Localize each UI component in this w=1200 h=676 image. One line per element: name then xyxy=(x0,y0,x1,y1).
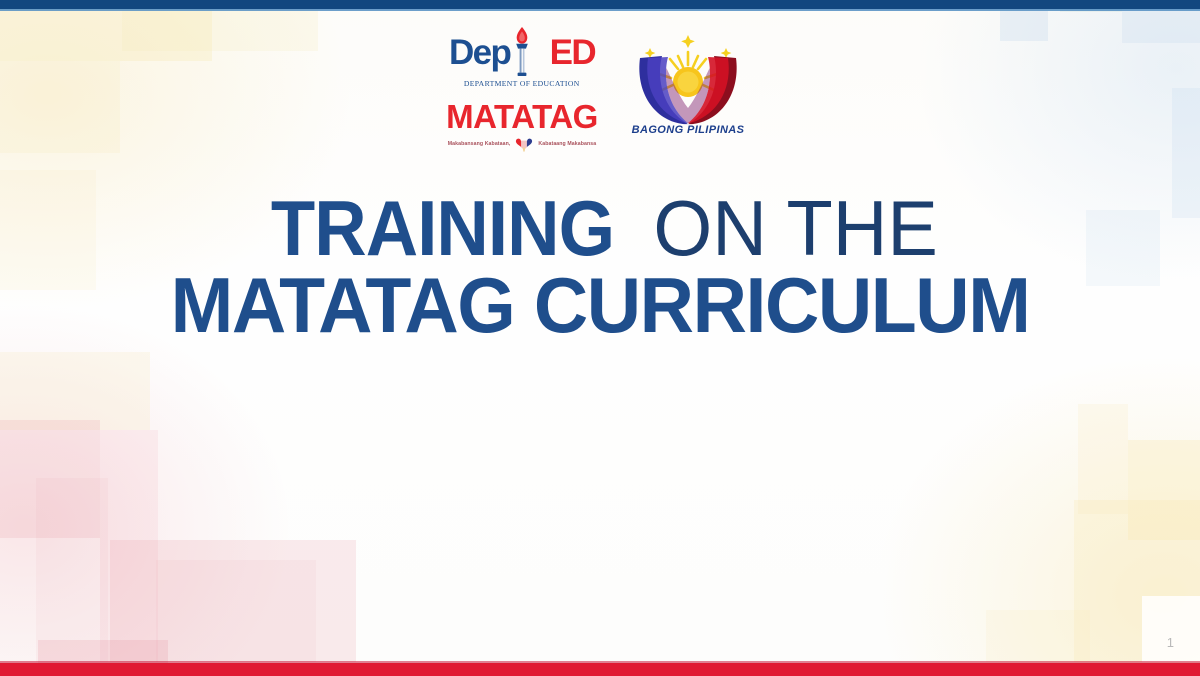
deped-wordmark: Dep ED xyxy=(449,32,595,78)
logo-row: Dep ED DEPARTMENT OF EDUCATION xyxy=(0,32,1200,152)
deped-logo: Dep ED DEPARTMENT OF EDUCATION xyxy=(446,32,598,152)
top-accent-bar xyxy=(0,0,1200,9)
bottom-accent-hairline xyxy=(0,661,1200,663)
decor-rect-pink-bl-5 xyxy=(156,560,316,662)
bagong-pilipinas-label: BAGONG PILIPINAS xyxy=(632,124,745,136)
decor-rect-cream-ml-1 xyxy=(0,352,150,430)
decor-rect-pink-bl-4 xyxy=(36,478,108,662)
decor-rect-cream-br-1 xyxy=(1128,440,1200,540)
decor-rect-pink-bl-2 xyxy=(100,430,158,662)
matatag-tagline: Makabansang Kabataan, Kabataang Makabans… xyxy=(448,136,596,152)
deped-subtitle: DEPARTMENT OF EDUCATION xyxy=(464,79,580,88)
deped-word-dep: Dep xyxy=(449,34,510,72)
title-words-on-the: ON THE xyxy=(653,192,937,265)
decor-rect-cream-br-2 xyxy=(1074,500,1200,662)
page-title: TRAINING ON THE MATATAG CURRICULUM xyxy=(0,192,1200,343)
title-slide: Dep ED DEPARTMENT OF EDUCATION xyxy=(0,0,1200,676)
torch-icon xyxy=(511,26,533,78)
decor-rect-cream-br-5 xyxy=(986,610,1090,662)
matatag-wordmark: MATATAG xyxy=(446,100,598,134)
bagong-pilipinas-logo: BAGONG PILIPINAS xyxy=(622,32,754,136)
title-line-2: MATATAG CURRICULUM xyxy=(0,269,1200,342)
deped-word-ed: ED xyxy=(550,34,595,72)
title-words-matatag-curriculum: MATATAG CURRICULUM xyxy=(171,269,1030,342)
sun-and-stars-swoosh-icon xyxy=(626,32,750,128)
matatag-tagline-right: Kabataang Makabansa xyxy=(538,141,596,147)
title-line-1: TRAINING ON THE xyxy=(0,192,1200,265)
top-accent-hairline xyxy=(0,9,1200,11)
heart-hands-icon xyxy=(513,136,535,152)
decor-rect-cream-br-3 xyxy=(1078,404,1128,514)
bottom-accent-bar xyxy=(0,663,1200,676)
decor-rect-cream-br-4 xyxy=(1142,596,1200,662)
title-word-training: TRAINING xyxy=(271,192,614,265)
page-number: 1 xyxy=(1167,635,1174,650)
matatag-tagline-left: Makabansang Kabataan, xyxy=(448,141,511,147)
decor-rect-pink-bl-1 xyxy=(0,420,100,538)
decor-rect-pink-bl-3 xyxy=(110,540,356,662)
